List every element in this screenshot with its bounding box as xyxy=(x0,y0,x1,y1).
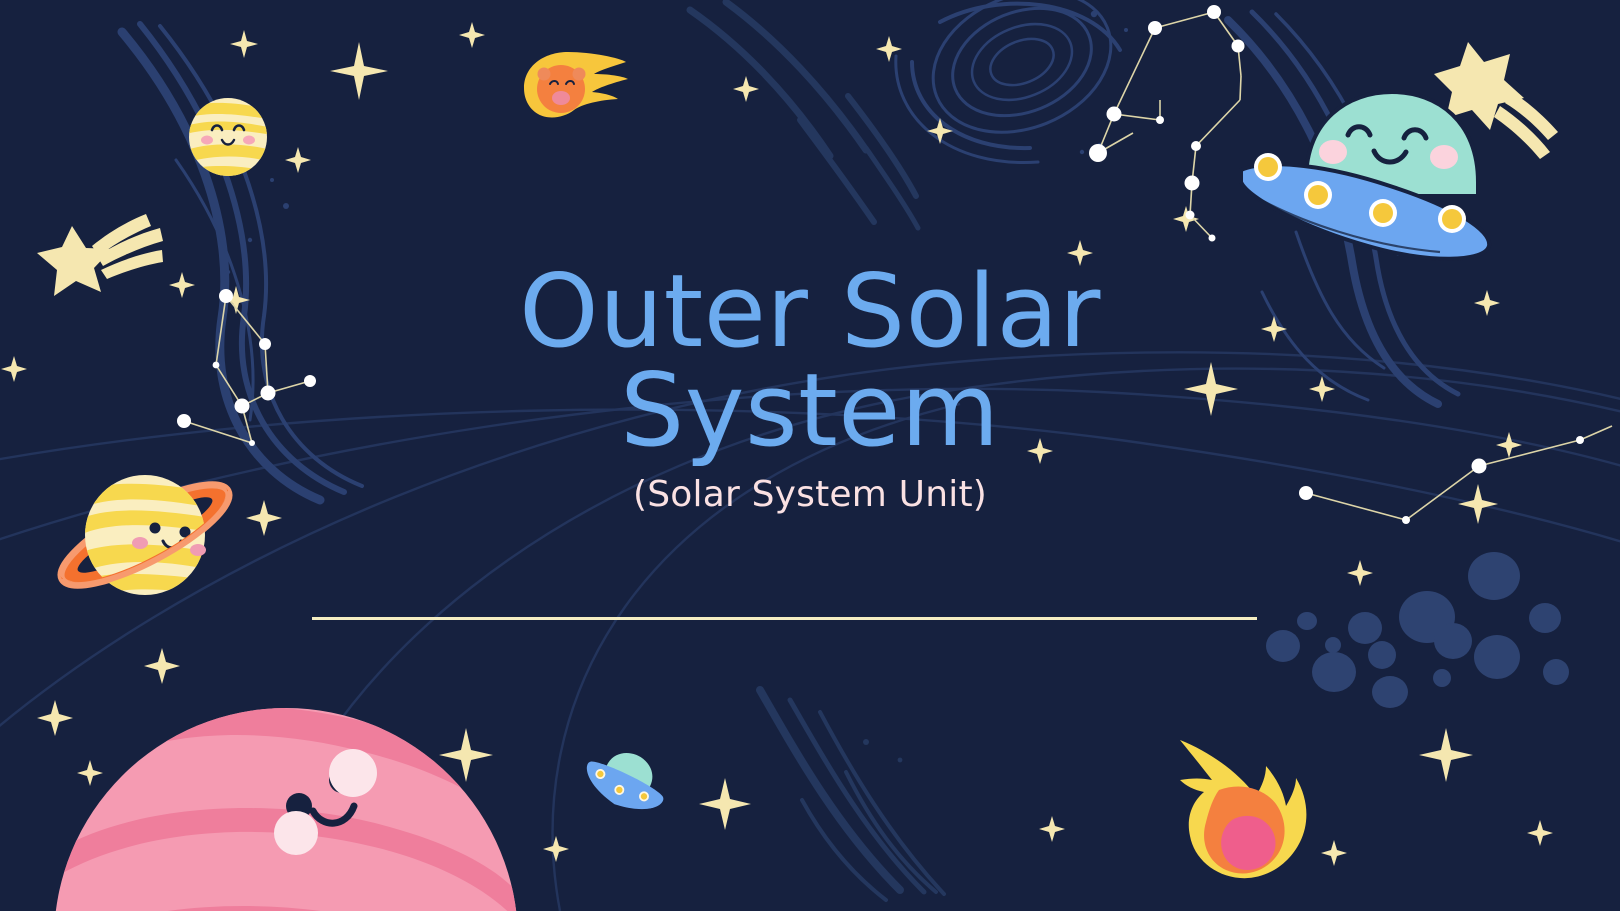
title-block: Outer Solar System (Solar System Unit) xyxy=(0,262,1620,515)
title-divider xyxy=(312,617,1257,620)
page-subtitle: (Solar System Unit) xyxy=(0,474,1620,515)
page-title: Outer Solar System xyxy=(0,262,1620,460)
slide-canvas: Outer Solar System (Solar System Unit) xyxy=(0,0,1620,911)
